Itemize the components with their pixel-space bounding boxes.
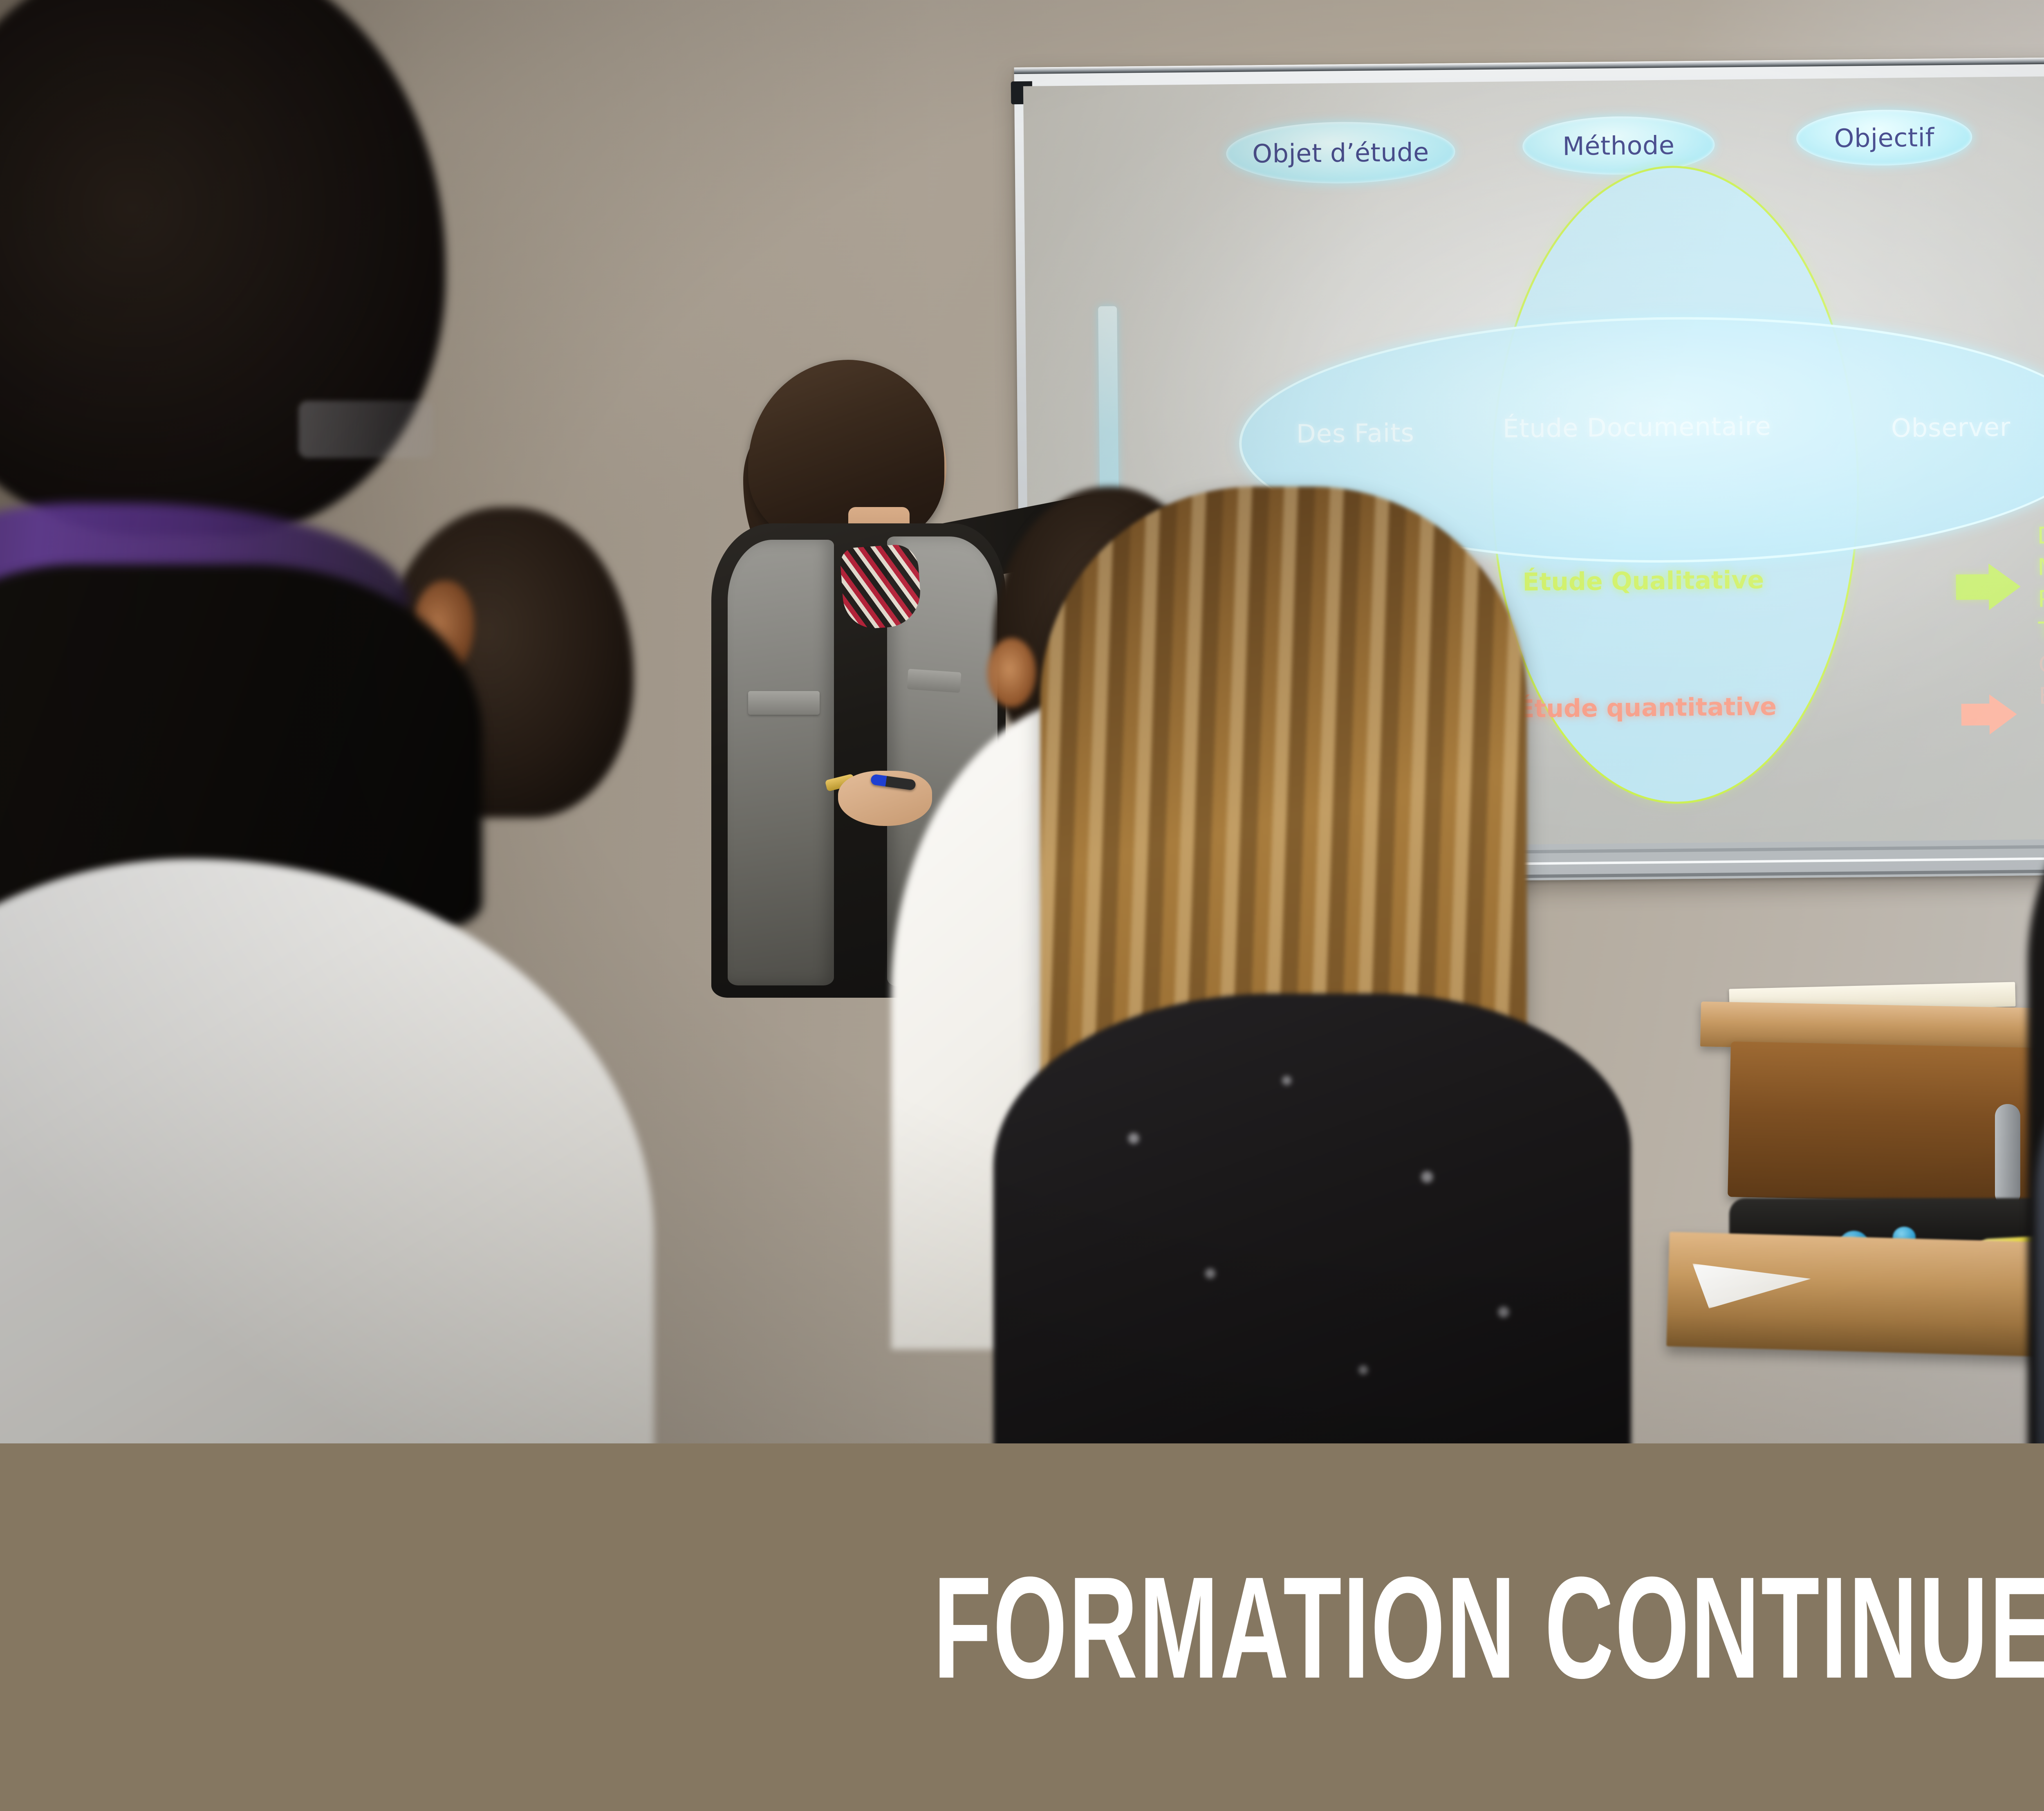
presenter-vest-pocket (748, 691, 820, 715)
presenter-vest-left (728, 540, 834, 985)
audience-ear-center-left (987, 638, 1036, 707)
slide-outcome-explorer: Explorer (2039, 679, 2044, 712)
audience-sequin-top (993, 994, 1631, 1476)
slide-outcome-mesurer: Mesurer (2037, 551, 2044, 583)
slide-label-etude-quantitative: Étude quantitative (1517, 692, 1777, 723)
presenter-hair (748, 360, 944, 548)
eyeglasses-left (298, 401, 433, 458)
caption-title: FORMATION CONTINUE (933, 1555, 2044, 1700)
caption-banner: FORMATION CONTINUE (0, 1443, 2044, 1811)
slide-outcomes-green: DécrireMesurerPrévoirTester (2037, 519, 2044, 646)
slide-label-etude-qualitative: Étude Qualitative (1522, 566, 1764, 597)
slide-outcomes-pink: ComprendreExplorer (2038, 648, 2044, 712)
chair-post (1995, 1104, 2020, 1206)
slide-pill-objet: Objet d’étude (1226, 121, 1455, 184)
slide-outcome-décrire: Décrire (2037, 519, 2044, 552)
presenter-vest-pocket-2 (907, 669, 961, 693)
slide-label-des-faits: Des Faits (1296, 418, 1414, 449)
slide-label-observer: Observer (1891, 412, 2011, 443)
slide-label-etude-documentaire: Étude Documentaire (1503, 411, 1771, 443)
screenshot-root: 111098765432112 Objet d’étude Méthode Ob… (0, 0, 2044, 1811)
slide-pill-objectif: Objectif (1796, 109, 1972, 166)
slide-outcome-prévoir: Prévoir (2038, 582, 2044, 615)
slide-outcome-tester: Tester (2038, 614, 2044, 646)
slide-outcome-comprendre: Comprendre (2038, 648, 2044, 681)
